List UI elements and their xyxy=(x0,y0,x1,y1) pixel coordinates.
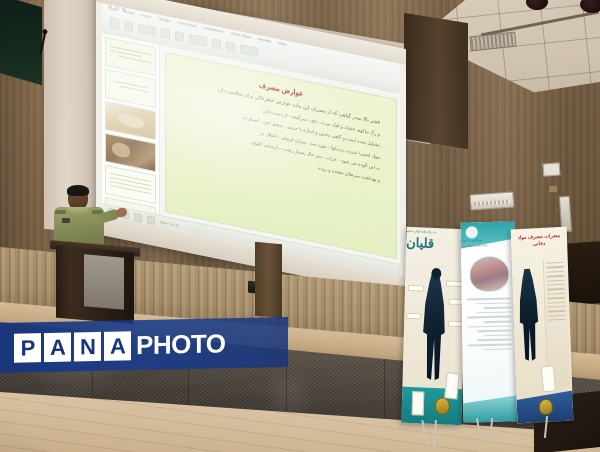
banner-health-subheading: ستاد مبارزه با مواد مخدر xyxy=(461,243,515,247)
banner-callout-label xyxy=(408,285,424,292)
green-curtain xyxy=(0,0,42,85)
banner-health: پیشگیری از اعتیاد ستاد مبارزه با مواد مخ… xyxy=(461,221,518,422)
pana-photo-watermark: P A N A PHOTO xyxy=(0,317,288,373)
banner-info-card xyxy=(541,365,556,392)
police-seal-icon xyxy=(435,397,450,415)
tab-design[interactable]: Design xyxy=(158,17,170,24)
tab-slide-show[interactable]: Slide Show xyxy=(231,31,251,39)
watermark-letter-p: P xyxy=(14,333,41,363)
wall-outlet-icon xyxy=(548,185,558,193)
banner-awareness: مضرات مصرف مواد دخانی xyxy=(511,227,574,424)
shapes-icon[interactable] xyxy=(212,39,221,50)
photograph-auditorium-scene: File Home Insert Design Transitions Anim… xyxy=(0,0,600,452)
slide-show-icon[interactable] xyxy=(147,215,155,225)
speaker-hair xyxy=(67,185,89,196)
banner-photo xyxy=(469,255,509,292)
police-seal-icon xyxy=(539,399,554,416)
watermark-letter-a1: A xyxy=(44,332,71,362)
tab-animations[interactable]: Animations xyxy=(204,26,224,34)
italic-icon[interactable] xyxy=(175,31,184,42)
tab-review[interactable]: Review xyxy=(258,37,271,44)
air-conditioner-icon xyxy=(469,191,514,210)
reading-view-icon[interactable] xyxy=(134,212,142,222)
watermark-letter-n: N xyxy=(74,331,101,361)
slide-counter: Slide 7 of 12 xyxy=(160,220,179,228)
banner-info-card xyxy=(412,391,425,416)
dark-wood-column xyxy=(404,13,468,149)
tab-insert[interactable]: Insert xyxy=(141,13,151,19)
paragraph-group[interactable] xyxy=(189,34,207,47)
tab-file[interactable]: File xyxy=(110,7,117,12)
stage-dark-column xyxy=(255,242,282,319)
banner-health-heading: پیشگیری از اعتیاد xyxy=(461,237,515,242)
tab-view[interactable]: View xyxy=(278,41,287,47)
banner-info-card xyxy=(444,372,459,399)
paste-icon[interactable] xyxy=(110,17,119,30)
font-selector[interactable] xyxy=(138,24,156,37)
wall-speaker-icon xyxy=(248,281,255,294)
watermark-photo-text: PHOTO xyxy=(136,329,225,360)
podium-front-panel xyxy=(84,254,124,309)
watermark-letter-blocks: P A N A xyxy=(14,331,131,362)
uniform-badge xyxy=(62,218,70,223)
banner-hookah-title: قلیان xyxy=(406,235,466,254)
banner-text-block xyxy=(467,297,512,350)
banner-hookah: در زیان های قلیان بدانیم قلیان xyxy=(401,227,466,426)
editing-group[interactable] xyxy=(240,44,258,57)
banner-figure-head xyxy=(431,268,441,279)
new-slide-icon[interactable] xyxy=(124,21,133,32)
slide-body: قشر بالا بمدر گیاهی که از مصرف این ماده … xyxy=(182,80,380,184)
tab-home[interactable]: Home xyxy=(124,10,134,16)
tab-transitions[interactable]: Transitions xyxy=(178,21,198,29)
wall-mounted-box xyxy=(543,162,561,176)
uniform-epaulet xyxy=(55,210,66,214)
banner-awareness-heading: مضرات مصرف مواد دخانی xyxy=(515,233,563,250)
watermark-letter-a2: A xyxy=(104,331,131,361)
banner-callout-label xyxy=(406,313,421,320)
banner-body-figure xyxy=(516,268,541,361)
bold-icon[interactable] xyxy=(161,28,170,39)
arrange-icon[interactable] xyxy=(226,41,235,52)
